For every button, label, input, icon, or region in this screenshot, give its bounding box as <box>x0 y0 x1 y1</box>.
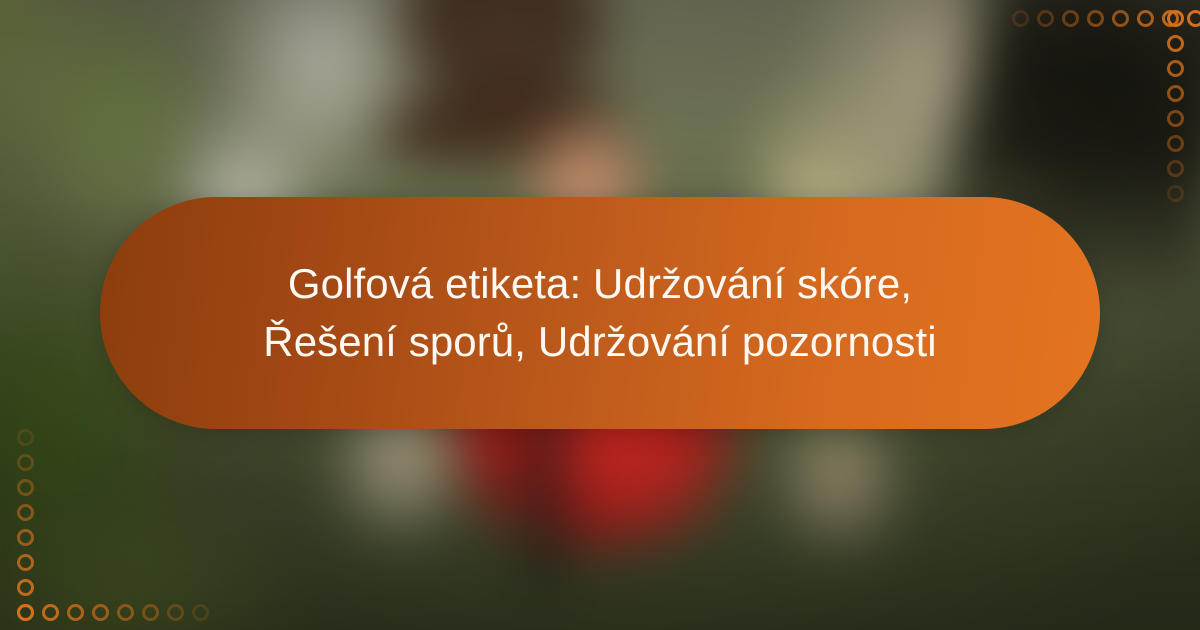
decorative-dot <box>1167 60 1184 77</box>
decorative-dot <box>1167 35 1184 52</box>
decorative-dot <box>17 529 34 546</box>
decorative-dot <box>1087 10 1104 27</box>
decorative-dot <box>117 604 134 621</box>
decorative-dot <box>67 604 84 621</box>
decorative-dot <box>1187 10 1200 27</box>
decorative-dot <box>1062 10 1079 27</box>
decorative-dot <box>92 604 109 621</box>
decorative-dot <box>1012 10 1029 27</box>
decorative-dot <box>1167 160 1184 177</box>
decorative-dot <box>17 454 34 471</box>
decorative-dot <box>1167 135 1184 152</box>
decorative-dot <box>1112 10 1129 27</box>
decorative-dot <box>1137 10 1154 27</box>
decorative-dot <box>17 479 34 496</box>
decorative-dot <box>17 429 34 446</box>
page-title: Golfová etiketa: Udržování skóre, Řešení… <box>220 255 980 371</box>
decorative-dot <box>1167 185 1184 202</box>
decorative-dot <box>42 604 59 621</box>
decorative-dot <box>192 604 209 621</box>
decorative-dot <box>142 604 159 621</box>
decorative-dot <box>1167 110 1184 127</box>
decorative-dot <box>1037 10 1054 27</box>
decorative-dot <box>1167 85 1184 102</box>
decorative-dot <box>17 504 34 521</box>
decorative-dot <box>17 554 34 571</box>
decorative-dot <box>17 604 34 621</box>
decorative-dot <box>1167 10 1184 27</box>
title-banner: Golfová etiketa: Udržování skóre, Řešení… <box>100 197 1100 429</box>
decorative-dot <box>167 604 184 621</box>
social-card-canvas: Golfová etiketa: Udržování skóre, Řešení… <box>0 0 1200 630</box>
decorative-dot <box>17 579 34 596</box>
